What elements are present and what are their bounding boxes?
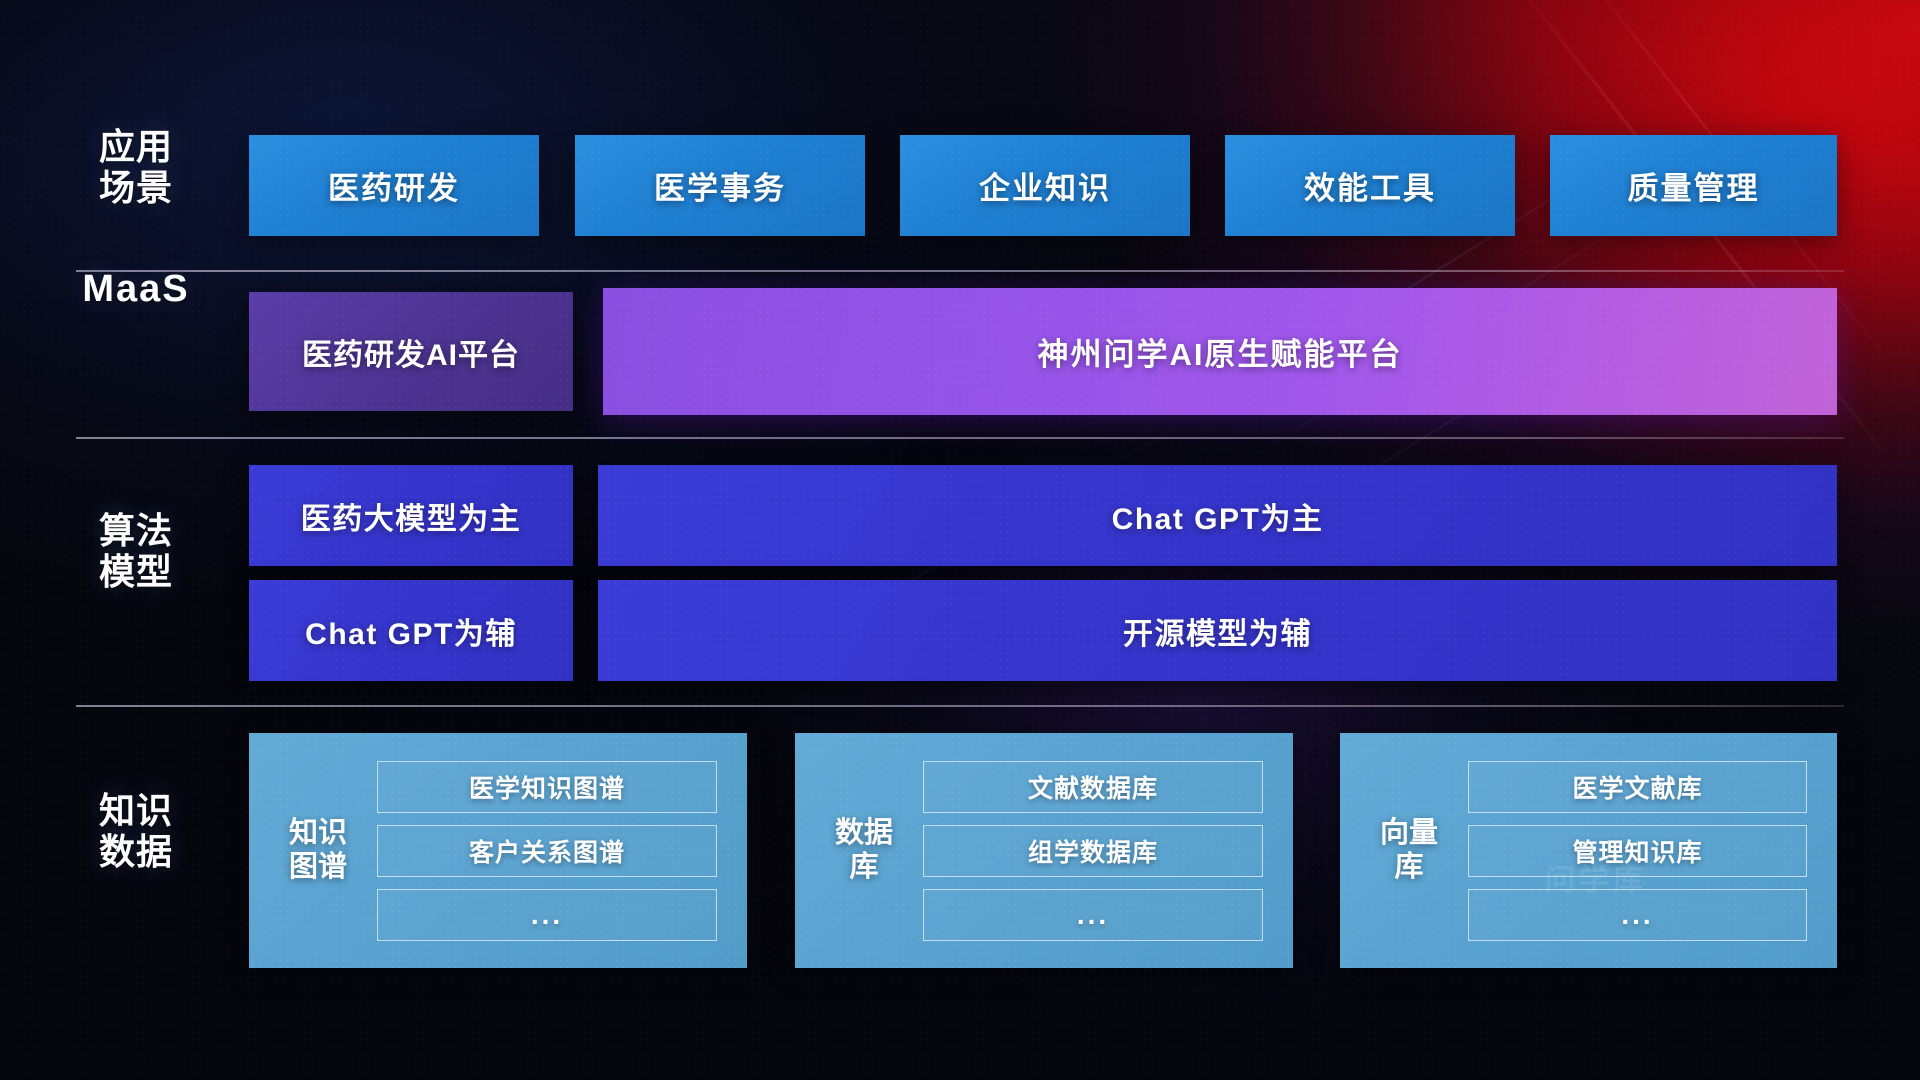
knowledge-item-more[interactable]: ... — [923, 889, 1263, 941]
knowledge-panel-title: 数据 库 — [827, 817, 901, 884]
algo-box-label: Chat GPT为辅 — [305, 609, 517, 653]
algo-box-medicine-large-model-primary[interactable]: 医药大模型为主 — [249, 465, 573, 566]
app-box-quality-management[interactable]: 质量管理 — [1550, 135, 1837, 236]
app-box-enterprise-knowledge[interactable]: 企业知识 — [900, 135, 1190, 236]
architecture-diagram: 应用 场景 MaaS 算法 模型 知识 数据 医药研发 医学事务 企业知识 效能… — [0, 0, 1920, 1080]
app-box-label: 医学事务 — [654, 163, 786, 208]
row-label-knowledge-data: 知识 数据 — [76, 790, 196, 872]
knowledge-panel-vector-store[interactable]: 向量 库 医学文献库 管理知识库 ... — [1340, 733, 1837, 968]
knowledge-panel-knowledge-graph[interactable]: 知识 图谱 医学知识图谱 客户关系图谱 ... — [249, 733, 747, 968]
divider-application-maas — [76, 270, 1844, 272]
row-label-algorithm-model: 算法 模型 — [76, 510, 196, 592]
algo-box-chatgpt-primary[interactable]: Chat GPT为主 — [598, 465, 1837, 566]
row-label-maas: MaaS — [66, 268, 206, 311]
knowledge-panel-title: 向量 库 — [1372, 817, 1446, 884]
knowledge-panel-title: 知识 图谱 — [281, 817, 355, 884]
algo-box-label: 开源模型为辅 — [1123, 609, 1312, 653]
app-box-efficiency-tools[interactable]: 效能工具 — [1225, 135, 1515, 236]
app-box-label: 医药研发 — [328, 163, 460, 208]
maas-box-medicine-rd-ai-platform[interactable]: 医药研发AI平台 — [249, 292, 573, 411]
app-box-label: 质量管理 — [1628, 163, 1760, 208]
knowledge-item[interactable]: 医学知识图谱 — [377, 761, 717, 813]
divider-maas-algorithm — [76, 437, 1844, 439]
algo-box-label: 医药大模型为主 — [301, 494, 522, 538]
knowledge-item[interactable]: 客户关系图谱 — [377, 825, 717, 877]
maas-box-label: 神州问学AI原生赋能平台 — [1038, 329, 1403, 374]
knowledge-item-list: 医学知识图谱 客户关系图谱 ... — [377, 761, 717, 941]
app-box-label: 企业知识 — [979, 163, 1111, 208]
knowledge-panel-database[interactable]: 数据 库 文献数据库 组学数据库 ... — [795, 733, 1293, 968]
algo-box-opensource-model-secondary[interactable]: 开源模型为辅 — [598, 580, 1837, 681]
app-box-label: 效能工具 — [1304, 163, 1436, 208]
algo-box-label: Chat GPT为主 — [1112, 494, 1324, 538]
maas-box-label: 医药研发AI平台 — [302, 330, 520, 374]
knowledge-item[interactable]: 文献数据库 — [923, 761, 1263, 813]
divider-algorithm-knowledge — [76, 705, 1844, 707]
knowledge-item-list: 医学文献库 管理知识库 ... — [1468, 761, 1807, 941]
algo-box-chatgpt-secondary[interactable]: Chat GPT为辅 — [249, 580, 573, 681]
maas-box-shenzhou-wenxue-platform[interactable]: 神州问学AI原生赋能平台 — [603, 288, 1837, 415]
app-box-medicine-rd[interactable]: 医药研发 — [249, 135, 539, 236]
knowledge-item-more[interactable]: ... — [377, 889, 717, 941]
knowledge-item[interactable]: 组学数据库 — [923, 825, 1263, 877]
knowledge-item[interactable]: 管理知识库 — [1468, 825, 1807, 877]
knowledge-item[interactable]: 医学文献库 — [1468, 761, 1807, 813]
knowledge-item-list: 文献数据库 组学数据库 ... — [923, 761, 1263, 941]
knowledge-item-more[interactable]: ... — [1468, 889, 1807, 941]
app-box-medical-affairs[interactable]: 医学事务 — [575, 135, 865, 236]
row-label-application-scenarios: 应用 场景 — [76, 126, 196, 208]
